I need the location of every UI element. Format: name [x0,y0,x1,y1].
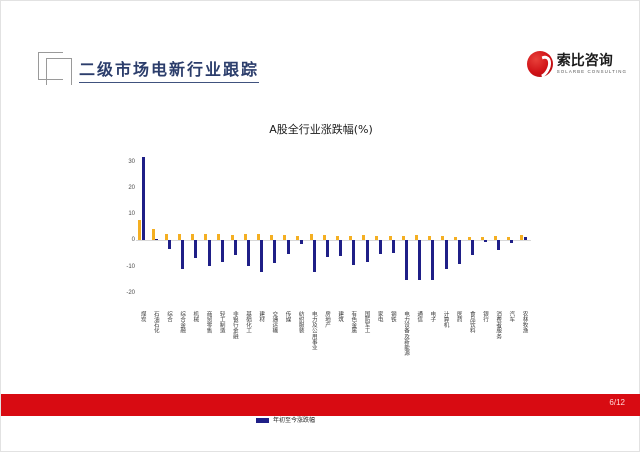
legend-swatch-icon [256,418,269,423]
x-axis-label: 建材 [257,311,263,322]
x-axis-label: 国防军工 [363,311,369,333]
bar-ytd [471,240,474,255]
x-axis-label: 通信 [415,311,421,322]
page-title: 二级市场电新行业跟踪 [79,56,259,83]
y-axis-tick: 20 [128,185,135,191]
y-axis-tick: 10 [128,211,135,217]
bar-ytd [221,240,224,261]
footer-bar: 6/12 [1,394,640,416]
bar-series-group [136,154,531,306]
chart-plot-area [136,154,531,306]
x-axis-label: 纺织服装 [297,311,303,333]
bar-week [191,234,194,241]
slide-header: 二级市场电新行业跟踪 索比咨询 SOLARBE CONSULTING [1,1,640,106]
bar-week [244,234,247,241]
bar-ytd [484,240,487,242]
bar-ytd [287,240,290,254]
bar-week [165,234,168,241]
bar-ytd [234,240,237,254]
x-axis-label: 商贸零售 [205,311,211,333]
y-axis-tick: 30 [128,159,135,165]
swirl-icon [527,51,553,77]
x-axis-label: 食品饮料 [468,311,474,333]
x-axis-label: 消费者服务 [494,311,500,339]
bar-ytd [352,240,355,264]
x-axis-label: 综合金融 [178,311,184,333]
bar-ytd [247,240,250,266]
x-axis-label: 农林牧渔 [521,311,527,333]
bar-ytd [510,240,513,243]
chart-container: A股全行业涨跌幅(%) 3020100-10-20 煤炭石油石化综合综合金融机械… [1,121,640,381]
bar-ytd [273,240,276,263]
bar-ytd [142,157,145,241]
bar-ytd [168,240,171,248]
legend-item[interactable]: 年初至今涨跌幅 [256,416,315,425]
x-axis-label: 电力设备及新能源 [402,311,408,356]
bar-ytd [260,240,263,271]
x-axis-label: 医药 [455,311,461,322]
bar-ytd [431,240,434,280]
bar-ytd [524,237,527,240]
legend-label: 年初至今涨跌幅 [273,416,315,425]
x-axis-category-labels: 煤炭石油石化综合综合金融机械商贸零售轻工制造非银行金融基础化工建材交通运输传媒纺… [136,311,531,383]
bar-ytd [458,240,461,263]
x-axis-label: 基础化工 [244,311,250,333]
chart-title: A股全行业涨跌幅(%) [1,121,640,137]
bar-ytd [155,239,158,241]
x-axis-label: 石油石化 [152,311,158,333]
x-axis-label: 计算机 [442,311,448,328]
x-axis-label: 轻工制造 [218,311,224,333]
y-axis-ticks: 3020100-10-20 [113,154,135,306]
x-axis-label: 有色金属 [349,311,355,333]
brand-name-en: SOLARBE CONSULTING [557,70,627,74]
bar-ytd [366,240,369,262]
bar-ytd [418,240,421,279]
bar-ytd [392,240,395,252]
bar-ytd [339,240,342,256]
x-axis-label: 综合 [165,311,171,322]
x-axis-label: 机械 [191,311,197,322]
x-axis-label: 非银行金融 [231,311,237,339]
bar-ytd [379,240,382,254]
y-axis-tick: -10 [126,264,135,270]
brand-logo: 索比咨询 SOLARBE CONSULTING [527,51,627,77]
bar-ytd [313,240,316,271]
bar-ytd [445,240,448,269]
x-axis-label: 电力及公用事业 [310,311,316,350]
x-axis-label: 电子 [428,311,434,322]
x-axis-label: 钢铁 [389,311,395,322]
bar-ytd [300,240,303,244]
bar-ytd [181,240,184,269]
x-axis-label: 汽车 [507,311,513,322]
bar-ytd [326,240,329,256]
y-axis-tick: 0 [132,237,135,243]
x-axis-label: 传媒 [284,311,290,322]
bar-ytd [405,240,408,280]
slide: 二级市场电新行业跟踪 索比咨询 SOLARBE CONSULTING A股全行业… [0,0,640,452]
page-number: 6/12 [609,398,625,407]
x-axis-label: 交通运输 [270,311,276,333]
x-axis-label: 建筑 [336,311,342,322]
x-axis-label: 家电 [376,311,382,322]
brand-text: 索比咨询 SOLARBE CONSULTING [557,54,627,74]
x-axis-label: 房地产 [323,311,329,328]
x-axis-label: 银行 [481,311,487,322]
brand-name-cn: 索比咨询 [557,54,627,68]
decorative-square-icon [38,52,72,86]
square-front-shape [46,58,72,85]
y-axis-tick: -20 [126,290,135,296]
bar-ytd [194,240,197,257]
bar-ytd [497,240,500,250]
x-axis-label: 煤炭 [139,311,145,322]
bar-ytd [208,240,211,265]
